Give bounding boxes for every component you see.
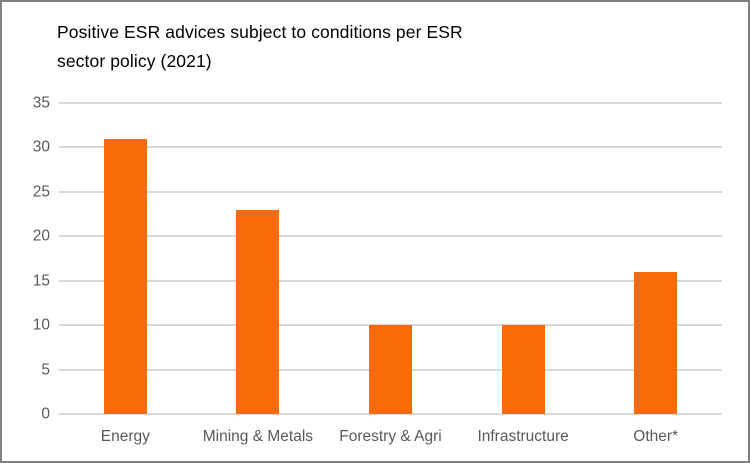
x-axis-tick-labels: EnergyMining & MetalsForestry & AgriInfr…: [59, 426, 722, 452]
y-axis-tick-label: 15: [10, 273, 50, 289]
y-axis-tick-label: 20: [10, 229, 50, 245]
y-axis-tick-label: 25: [10, 184, 50, 200]
gridline: [59, 102, 722, 104]
bar[interactable]: [104, 139, 147, 414]
bar[interactable]: [369, 325, 412, 414]
y-axis-tick-label: 30: [10, 140, 50, 156]
bar[interactable]: [236, 210, 279, 414]
y-axis-tick-label: 0: [10, 406, 50, 422]
y-axis-tick-labels: 05101520253035: [10, 103, 50, 414]
gridline: [59, 235, 722, 237]
bar[interactable]: [634, 272, 677, 414]
x-axis-tick-label: Energy: [101, 426, 150, 448]
y-axis-tick-label: 5: [10, 362, 50, 378]
chart-container: Positive ESR advices subject to conditio…: [0, 0, 750, 463]
x-axis-tick-label: Infrastructure: [477, 426, 568, 448]
bar[interactable]: [502, 325, 545, 414]
chart-title: Positive ESR advices subject to conditio…: [57, 18, 677, 76]
y-axis-tick-label: 35: [10, 95, 50, 111]
x-axis-tick-label: Forestry & Agri: [339, 426, 442, 448]
gridline: [59, 280, 722, 282]
x-axis-tick-label: Mining & Metals: [203, 426, 313, 448]
plot-area: [59, 103, 722, 414]
y-axis-tick-label: 10: [10, 317, 50, 333]
gridline: [59, 146, 722, 148]
gridline: [59, 191, 722, 193]
x-axis-tick-label: Other*: [633, 426, 678, 448]
